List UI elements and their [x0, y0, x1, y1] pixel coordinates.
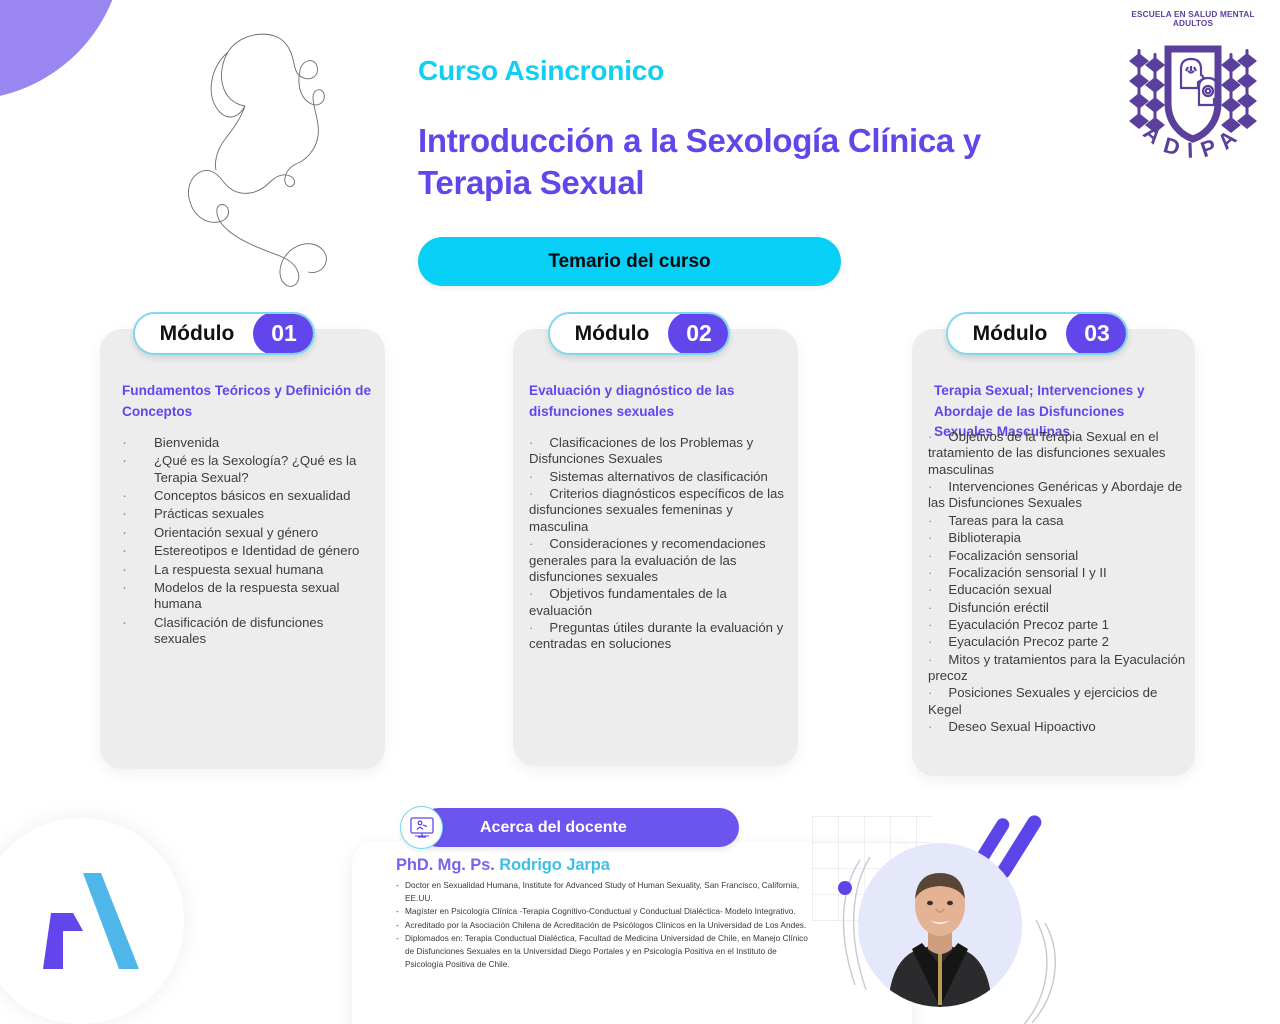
bullet-dot: ·: [928, 565, 932, 580]
credential-item: Magíster en Psicología Clínica -Terapia …: [396, 905, 816, 918]
docente-name: PhD. Mg. Ps. Rodrigo Jarpa: [396, 856, 610, 875]
topic-item: Prácticas sexuales: [122, 506, 373, 522]
topic-item: ·Eyaculación Precoz parte 2: [928, 634, 1187, 650]
bullet-dot: ·: [928, 685, 932, 700]
bullet-dot: ·: [928, 652, 932, 667]
bullet-dot: ·: [928, 513, 932, 528]
adipa-logo: ESCUELA EN SALUD MENTAL ADULTOS: [1106, 0, 1280, 174]
topic-item: Conceptos básicos en sexualidad: [122, 488, 373, 504]
poster-canvas: ESCUELA EN SALUD MENTAL ADULTOS: [0, 0, 1280, 1024]
docente-credentials-list: Doctor en Sexualidad Humana, Institute f…: [396, 879, 816, 971]
temario-pill[interactable]: Temario del curso: [418, 237, 841, 286]
bullet-dot: ·: [928, 548, 932, 563]
presentation-monitor-icon: [400, 806, 443, 849]
module-badge-number: 02: [668, 312, 730, 355]
topic-item: ·Educación sexual: [928, 582, 1187, 598]
module-badge: Módulo 01: [133, 312, 315, 355]
module-card: Módulo 01 Fundamentos Teóricos y Definic…: [100, 329, 385, 769]
adipa-shield-mark: ADIPA: [1113, 31, 1273, 171]
module-title: Fundamentos Teóricos y Definición de Con…: [122, 381, 371, 422]
topic-item: ·Criterios diagnósticos específicos de l…: [529, 486, 790, 535]
module-title: Evaluación y diagnóstico de las disfunci…: [529, 381, 784, 422]
module-card: Módulo 02 Evaluación y diagnóstico de la…: [513, 329, 798, 766]
credential-item: Diplomados en: Terapia Conductual Dialéc…: [396, 932, 816, 970]
logo-caption-line2: ADULTOS: [1118, 19, 1268, 28]
topic-item: ·Disfunción eréctil: [928, 600, 1187, 616]
module-topic-list: ·Clasificaciones de los Problemas y Disf…: [529, 435, 790, 654]
module-badge-number: 03: [1066, 312, 1128, 355]
module-badge-label: Módulo: [135, 314, 253, 353]
bullet-dot: ·: [529, 536, 533, 551]
logo-caption-line1: ESCUELA EN SALUD MENTAL: [1118, 10, 1268, 19]
topic-item: ·Focalización sensorial I y II: [928, 565, 1187, 581]
topic-item: ¿Qué es la Sexología? ¿Qué es la Terapia…: [122, 453, 373, 486]
topic-item: ·Posiciones Sexuales y ejercicios de Keg…: [928, 685, 1187, 718]
docente-section-bar: Acerca del docente: [419, 808, 739, 847]
topic-item: Clasificación de disfunciones sexuales: [122, 615, 373, 648]
topic-item: ·Intervenciones Genéricas y Abordaje de …: [928, 479, 1187, 512]
page-title: Introducción a la Sexología Clínica y Te…: [418, 120, 1058, 204]
topic-item: ·Tareas para la casa: [928, 513, 1187, 529]
module-badge-number: 01: [253, 312, 315, 355]
bullet-dot: ·: [529, 486, 533, 501]
bullet-dot: ·: [529, 435, 533, 450]
module-card: Módulo 03 Terapia Sexual; Intervenciones…: [912, 329, 1195, 776]
topic-item: Modelos de la respuesta sexual humana: [122, 580, 373, 613]
bullet-dot: ·: [928, 479, 932, 494]
docente-portrait: [858, 843, 1022, 1007]
bullet-dot: ·: [928, 582, 932, 597]
topic-item: ·Focalización sensorial: [928, 548, 1187, 564]
credential-item: Acreditado por la Asociación Chilena de …: [396, 919, 816, 932]
bullet-dot: ·: [928, 600, 932, 615]
adipa-a-logo: [0, 818, 184, 1024]
module-topic-list: ·Objetivos de la Terapia Sexual en el tr…: [928, 429, 1187, 736]
topic-item: ·Eyaculación Precoz parte 1: [928, 617, 1187, 633]
docente-degrees: PhD. Mg. Ps.: [396, 856, 495, 874]
bullet-dot: ·: [529, 620, 533, 635]
topic-item: La respuesta sexual humana: [122, 562, 373, 578]
bullet-dot: ·: [928, 719, 932, 734]
topic-item: ·Consideraciones y recomendaciones gener…: [529, 536, 790, 585]
module-topic-list: Bienvenida¿Qué es la Sexología? ¿Qué es …: [122, 435, 373, 649]
docente-fullname: Rodrigo Jarpa: [499, 856, 610, 874]
topic-item: Bienvenida: [122, 435, 373, 451]
module-badge-label: Módulo: [948, 314, 1066, 353]
credential-item: Doctor en Sexualidad Humana, Institute f…: [396, 879, 816, 904]
bullet-dot: ·: [928, 530, 932, 545]
topic-item: Orientación sexual y género: [122, 525, 373, 541]
topic-item: ·Mitos y tratamientos para la Eyaculació…: [928, 652, 1187, 685]
module-badge-label: Módulo: [550, 314, 668, 353]
topic-item: ·Clasificaciones de los Problemas y Disf…: [529, 435, 790, 468]
bullet-dot: ·: [928, 634, 932, 649]
topic-item: ·Objetivos de la Terapia Sexual en el tr…: [928, 429, 1187, 478]
bullet-dot: ·: [529, 469, 533, 484]
corner-blob-decoration: [0, 0, 124, 100]
logo-caption: ESCUELA EN SALUD MENTAL ADULTOS: [1118, 10, 1268, 29]
topic-item: Estereotipos e Identidad de género: [122, 543, 373, 559]
topic-item: ·Preguntas útiles durante la evaluación …: [529, 620, 790, 653]
module-badge: Módulo 02: [548, 312, 730, 355]
course-kicker: Curso Asincronico: [418, 55, 664, 87]
bullet-dot: ·: [529, 586, 533, 601]
module-badge: Módulo 03: [946, 312, 1128, 355]
topic-item: ·Biblioterapia: [928, 530, 1187, 546]
topic-item: ·Objetivos fundamentales de la evaluació…: [529, 586, 790, 619]
topic-item: ·Deseo Sexual Hipoactivo: [928, 719, 1187, 735]
bullet-dot: ·: [928, 617, 932, 632]
line-art-couple-illustration: [140, 10, 360, 295]
bullet-dot: ·: [928, 429, 932, 444]
topic-item: ·Sistemas alternativos de clasificación: [529, 469, 790, 485]
